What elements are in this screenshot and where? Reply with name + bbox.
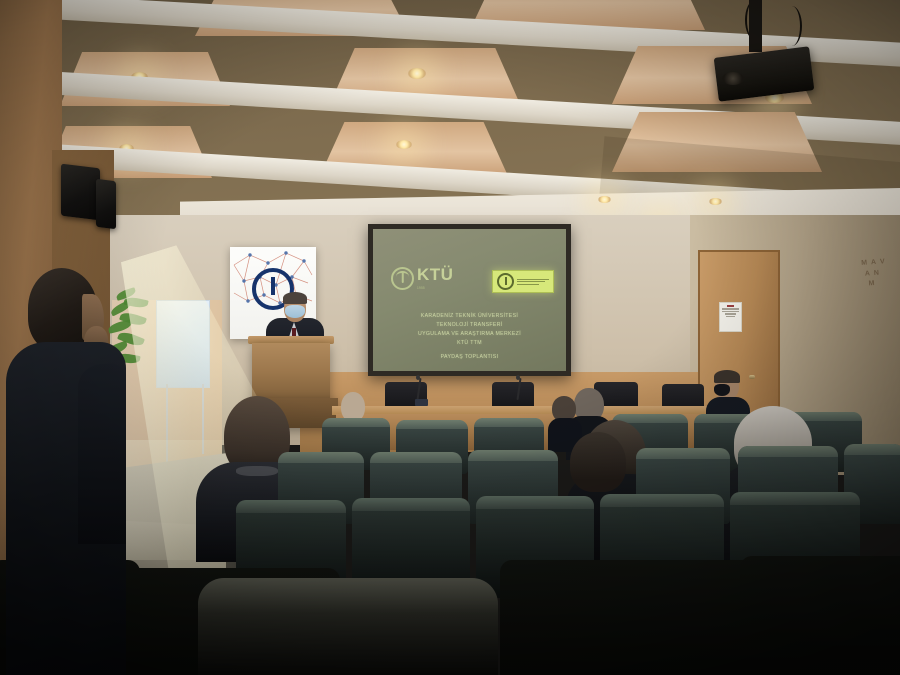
- wall-speaker-left-2: [96, 179, 116, 229]
- ktu-logo-mark: [391, 267, 414, 290]
- seat-rim: [738, 446, 838, 457]
- ceiling-downlight-5: [396, 140, 412, 149]
- panel-microphone-head-1: [416, 375, 420, 380]
- seat-rim: [636, 448, 730, 459]
- seat-rim: [844, 444, 900, 455]
- seat-foreground-2: [198, 578, 498, 675]
- soffit-downlight-2: [709, 198, 722, 205]
- ktu-wordmark: KTÜ: [417, 265, 453, 284]
- speaker-hair: [283, 292, 307, 304]
- seat-rim: [370, 452, 462, 463]
- standing-man-arm: [78, 364, 126, 544]
- attendee-hair: [714, 370, 740, 383]
- flipchart-board: [156, 300, 210, 388]
- panel-microphone-head-2: [516, 375, 520, 380]
- slide-title-line-3: UYGULAMA VE ARAŞTIRMA MERKEZİ: [373, 330, 566, 339]
- badge-text-lines: [517, 279, 549, 285]
- seat-rim: [730, 492, 860, 505]
- attendee-collar: [236, 466, 278, 476]
- speaker-face-mask: [285, 305, 305, 318]
- podium: [252, 343, 330, 401]
- seat-rim: [476, 496, 594, 509]
- seat-foreground-4: [740, 556, 900, 675]
- door-notice-sign: [719, 302, 742, 332]
- slide-title-line-2: TEKNOLOJİ TRANSFERİ: [373, 321, 566, 330]
- soffit-downlight-1: [598, 196, 611, 203]
- person-standing-foreground-left: [6, 268, 126, 675]
- slide: KTÜ 1955 KARADENİZ TEKNİK ÜNİVERSİTESİ T…: [373, 229, 566, 371]
- seat-rim: [352, 498, 470, 511]
- conference-hall-photo: M A V A N M KTÜ 1955: [0, 0, 900, 675]
- projection-screen: KTÜ 1955 KARADENİZ TEKNİK ÜNİVERSİTESİ T…: [373, 229, 566, 371]
- attendee-head: [570, 432, 626, 492]
- seat-rim: [322, 418, 390, 427]
- seat-rim: [396, 420, 468, 429]
- table-object: [415, 399, 428, 406]
- attendee-face-mask-black: [714, 384, 730, 396]
- wall-speaker-left-1: [61, 164, 100, 221]
- ceiling-downlight-2: [408, 68, 426, 79]
- seat-rim: [278, 452, 364, 463]
- projector-lens: [722, 72, 744, 85]
- wall-text-right: M A V A N M: [861, 257, 888, 290]
- seat-rim: [236, 500, 346, 513]
- badge-logo-mark: [497, 273, 514, 290]
- projector-mount: [749, 0, 762, 52]
- seat-rim: [474, 418, 544, 427]
- slide-title-line-1: KARADENİZ TEKNİK ÜNİVERSİTESİ: [373, 312, 566, 321]
- ktu-logo-sub: 1955: [417, 286, 453, 290]
- slide-partner-badge: [492, 270, 554, 293]
- projector-cable-2: [782, 6, 802, 46]
- seat-rim: [468, 450, 558, 461]
- slide-title-line-4: KTÜ TTM: [373, 339, 566, 348]
- seat-rim: [600, 494, 724, 507]
- slide-title-line-5: PAYDAŞ TOPLANTISI: [373, 353, 566, 362]
- seat-foreground-3: [500, 560, 760, 675]
- slide-ktu-logo: KTÜ 1955: [391, 266, 453, 290]
